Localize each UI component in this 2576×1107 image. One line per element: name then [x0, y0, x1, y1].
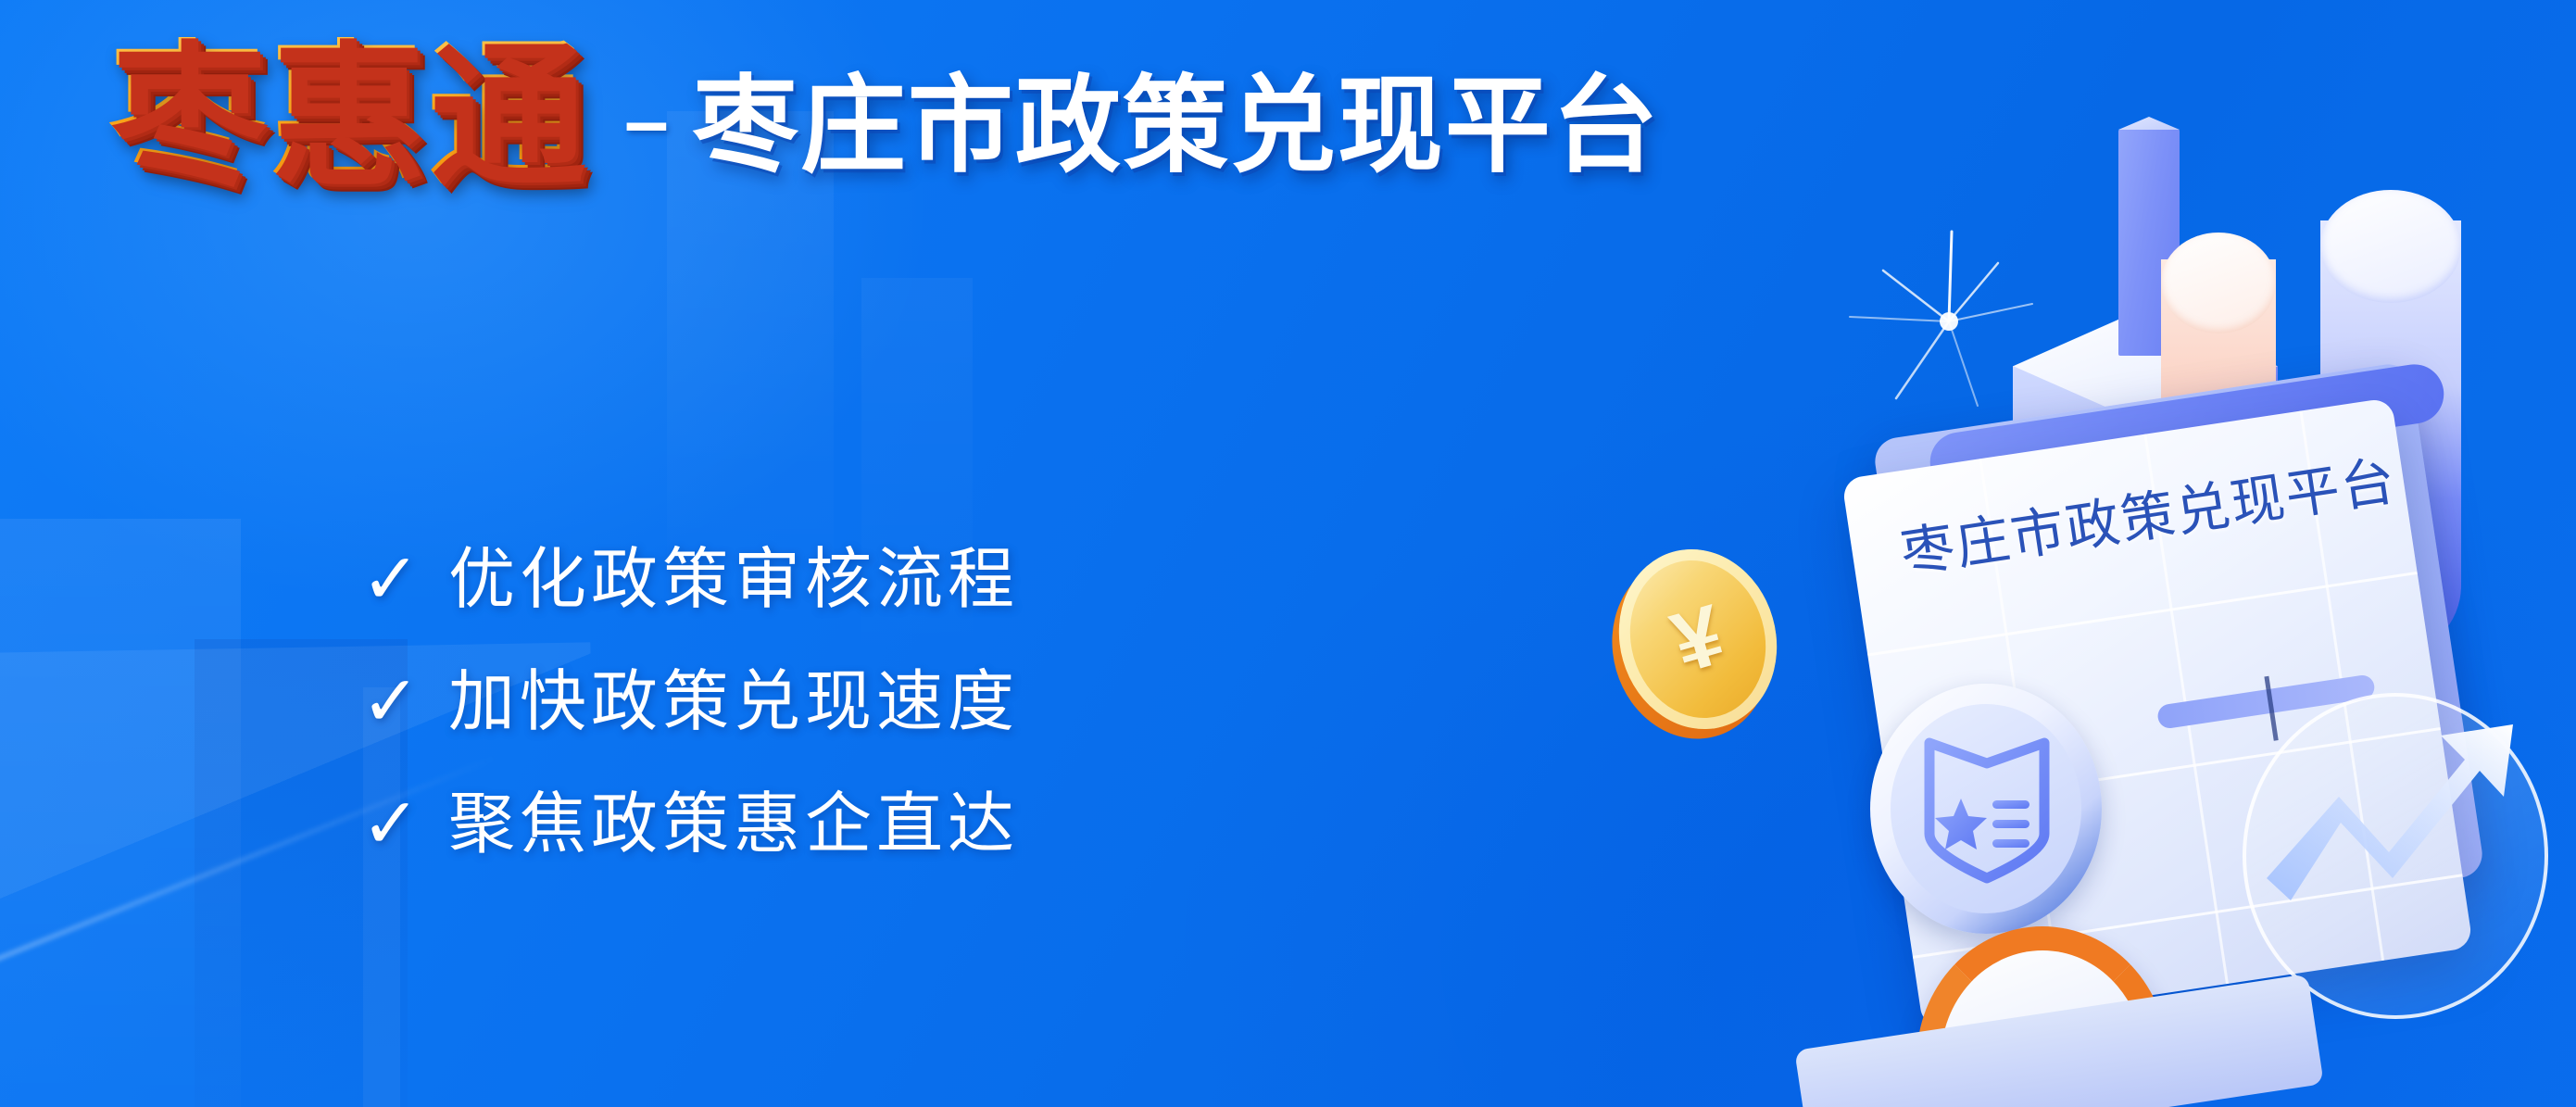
promo-banner: 枣惠通 – 枣庄市政策兑现平台 ✓ 优化政策审核流程 ✓ 加快政策兑现速度 ✓ …: [0, 0, 2576, 1107]
headline-separator: –: [624, 82, 669, 161]
brand-title: 枣惠通: [109, 37, 597, 193]
feature-item: ✓ 加快政策兑现速度: [361, 641, 1019, 763]
headline: 枣惠通 – 枣庄市政策兑现平台: [109, 37, 1660, 193]
check-icon: ✓: [361, 545, 437, 615]
feature-item: ✓ 聚焦政策惠企直达: [361, 763, 1019, 886]
cylinder-blue-cap: [2320, 190, 2461, 303]
shield-star-icon: [1922, 732, 2052, 886]
feature-label: 聚焦政策惠企直达: [448, 791, 1019, 858]
check-icon: ✓: [361, 667, 437, 737]
feature-label: 加快政策兑现速度: [448, 669, 1019, 736]
illustration: 枣庄市政策兑现平台: [1594, 0, 2576, 1107]
feature-list: ✓ 优化政策审核流程 ✓ 加快政策兑现速度 ✓ 聚焦政策惠企直达: [361, 519, 1019, 886]
background-building-left: [0, 519, 241, 1107]
certification-badge: [1870, 684, 2102, 934]
feature-item: ✓ 优化政策审核流程: [361, 519, 1019, 641]
cylinder-coral-cap: [2161, 233, 2276, 333]
yuan-coin: ¥: [1598, 531, 1798, 748]
trending-up-arrow-icon: [2243, 693, 2548, 1019]
check-icon: ✓: [361, 789, 437, 860]
headline-subtitle: 枣庄市政策兑现平台: [693, 74, 1660, 180]
feature-label: 优化政策审核流程: [448, 547, 1019, 613]
card-title: 枣庄市政策兑现平台: [1897, 452, 2382, 586]
yuan-symbol-icon: ¥: [1598, 531, 1798, 748]
